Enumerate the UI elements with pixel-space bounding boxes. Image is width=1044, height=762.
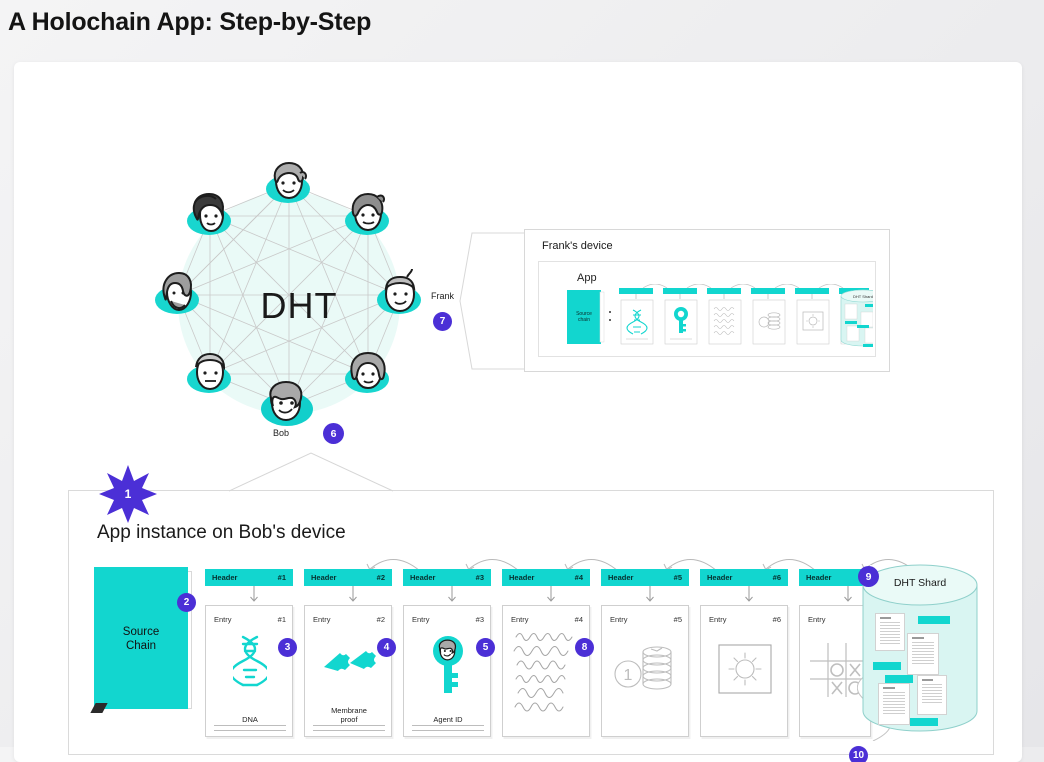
entry-card-header: Entry #4 xyxy=(503,615,591,624)
entry-label: Entry xyxy=(214,615,232,624)
dht-network: DHT xyxy=(142,154,452,454)
frank-device-title: Frank's device xyxy=(542,240,613,252)
entry-label: Entry xyxy=(412,615,430,624)
header-label: Header xyxy=(608,573,633,582)
shard-header-bar xyxy=(885,675,913,683)
step-badge-6[interactable]: 6 xyxy=(323,423,344,444)
dht-node-left[interactable] xyxy=(151,268,205,322)
down-arrow-icon xyxy=(744,586,754,606)
shard-header-bar xyxy=(918,616,950,624)
source-chain-book[interactable]: Source Chain 2 xyxy=(94,567,196,715)
entry-rules xyxy=(214,721,286,731)
down-arrow-icon xyxy=(249,586,259,606)
step-badge-9[interactable]: 9 xyxy=(858,566,879,587)
avatar-face-icon xyxy=(341,347,395,401)
step-badge-4[interactable]: 4 xyxy=(377,638,396,657)
down-arrow-icon xyxy=(546,586,556,606)
dht-node-lower-right[interactable] xyxy=(341,347,395,401)
dht-node-frank[interactable]: Frank 7 xyxy=(373,268,427,322)
header-label: Header xyxy=(707,573,732,582)
dht-node-label-frank: Frank xyxy=(431,291,454,301)
step-badge-10[interactable]: 10 xyxy=(849,746,868,762)
header-bar-5[interactable]: Header #5 xyxy=(601,569,689,586)
down-arrow-icon xyxy=(348,586,358,606)
svg-text:DHT Shard: DHT Shard xyxy=(853,294,873,299)
header-index: #3 xyxy=(476,573,484,582)
chain-column-3: Header #3 Entry #3 xyxy=(403,569,491,586)
header-bar-4[interactable]: Header #4 xyxy=(502,569,590,586)
source-chain-entries: Header #1 Entry #1 xyxy=(205,569,905,739)
page-title: A Holochain App: Step-by-Step xyxy=(8,8,371,37)
header-index: #1 xyxy=(278,573,286,582)
entry-card-header: Entry #3 xyxy=(404,615,492,624)
shard-header-bar xyxy=(910,718,938,726)
shard-doc xyxy=(875,613,905,651)
entry-card-1[interactable]: Entry #1 DNA 3 xyxy=(205,605,293,737)
entry-index: #4 xyxy=(575,615,583,624)
header-label: Header xyxy=(806,573,831,582)
dht-node-top[interactable] xyxy=(262,157,316,211)
entry-card-header: Entry #1 xyxy=(206,615,294,624)
entry-rules xyxy=(313,721,385,731)
chain-column-4: Header #4 Entry #4 xyxy=(502,569,590,586)
diagram-canvas: DHT xyxy=(14,62,1022,762)
header-bar-3[interactable]: Header #3 xyxy=(403,569,491,586)
svg-text:1: 1 xyxy=(624,667,633,684)
entry-index: #2 xyxy=(377,615,385,624)
entry-index: #1 xyxy=(278,615,286,624)
avatar-face-icon xyxy=(373,268,427,322)
step-badge-1-label: 1 xyxy=(99,465,157,523)
avatar-face-icon xyxy=(262,157,316,211)
chain-column-2: Header #2 Entry #2 xyxy=(304,569,392,586)
entry-card-header: Entry #6 xyxy=(701,615,789,624)
entry-card-3[interactable]: Entry #3 xyxy=(403,605,491,737)
avatar-face-icon xyxy=(183,189,237,243)
frank-app-label: App xyxy=(577,272,597,284)
shard-header-bar xyxy=(873,662,901,670)
down-arrow-icon xyxy=(447,586,457,606)
avatar-face-icon xyxy=(260,376,314,430)
app-instance-title: App instance on Bob's device xyxy=(97,522,346,544)
source-chain-label: Source Chain xyxy=(94,625,188,654)
header-label: Header xyxy=(311,573,336,582)
down-arrow-icon xyxy=(843,586,853,606)
entry-card-4[interactable]: Entry #4 xyxy=(502,605,590,737)
callout-pointer xyxy=(458,229,528,372)
entry-card-header: Entry #2 xyxy=(305,615,393,624)
shard-doc xyxy=(917,675,947,715)
dht-node-bob[interactable]: Bob 6 xyxy=(260,376,314,430)
header-label: Header xyxy=(212,573,237,582)
entry-index: #5 xyxy=(674,615,682,624)
frank-device-callout: Frank's device App Source chain xyxy=(510,229,890,372)
bob-callout-pointer xyxy=(229,451,429,493)
chain-column-6: Header #6 Entry #6 xyxy=(700,569,788,586)
shard-doc xyxy=(878,683,910,725)
frank-mini-chain: Source chain xyxy=(567,284,873,354)
dht-node-upper-right[interactable] xyxy=(341,189,395,243)
avatar-face-icon xyxy=(341,189,395,243)
step-badge-5[interactable]: 5 xyxy=(476,638,495,657)
entry-rules xyxy=(412,721,484,731)
header-index: #6 xyxy=(773,573,781,582)
step-badge-2[interactable]: 2 xyxy=(177,593,196,612)
step-badge-1-star[interactable]: 1 xyxy=(99,465,157,523)
sun-photo-icon xyxy=(701,636,789,704)
header-bar-6[interactable]: Header #6 xyxy=(700,569,788,586)
header-index: #5 xyxy=(674,573,682,582)
entry-card-header: Entry #5 xyxy=(602,615,690,624)
step-badge-8[interactable]: 8 xyxy=(575,638,594,657)
shard-doc xyxy=(907,633,939,675)
frank-app-box: App Source chain xyxy=(538,261,876,357)
chain-column-1: Header #1 Entry #1 xyxy=(205,569,293,586)
step-badge-3[interactable]: 3 xyxy=(278,638,297,657)
entry-card-6[interactable]: Entry #6 xyxy=(700,605,788,737)
avatar-face-icon xyxy=(151,268,205,322)
app-instance-panel: 1 App instance on Bob's device Source Ch… xyxy=(68,490,994,755)
step-badge-7[interactable]: 7 xyxy=(433,312,452,331)
entry-label: Entry xyxy=(610,615,628,624)
entry-label: Entry xyxy=(709,615,727,624)
dht-node-lower-left[interactable] xyxy=(183,347,237,401)
header-index: #4 xyxy=(575,573,583,582)
entry-label: Entry xyxy=(511,615,529,624)
header-bar-2[interactable]: Header #2 xyxy=(304,569,392,586)
header-index: #2 xyxy=(377,573,385,582)
header-bar-1[interactable]: Header #1 xyxy=(205,569,293,586)
entry-index: #6 xyxy=(773,615,781,624)
header-label: Header xyxy=(509,573,534,582)
dht-node-label-bob: Bob xyxy=(273,428,289,438)
dht-shard[interactable]: DHT Shard 9 xyxy=(855,563,985,738)
entry-index: #3 xyxy=(476,615,484,624)
dht-node-upper-left[interactable] xyxy=(183,189,237,243)
down-arrow-icon xyxy=(645,586,655,606)
coins-stack-icon: 1 xyxy=(602,636,690,704)
entry-label: Entry xyxy=(313,615,331,624)
entry-card-2[interactable]: Entry #2 Membraneproof 4 xyxy=(304,605,392,737)
entry-label: Entry xyxy=(808,615,826,624)
svg-text:chain: chain xyxy=(578,317,590,323)
chain-column-5: Header #5 Entry #5 1 xyxy=(601,569,689,586)
avatar-face-icon xyxy=(183,347,237,401)
header-label: Header xyxy=(410,573,435,582)
entry-card-5[interactable]: Entry #5 1 xyxy=(601,605,689,737)
